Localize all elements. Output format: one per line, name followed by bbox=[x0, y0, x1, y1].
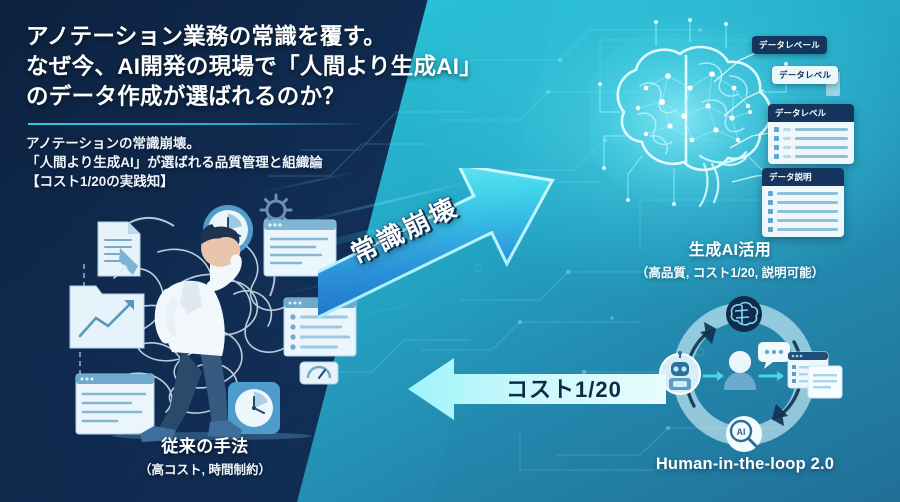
legacy-caption-main: 従来の手法 bbox=[60, 432, 350, 457]
person-icon bbox=[724, 351, 756, 390]
cost-reduction-label: コスト1/20 bbox=[506, 372, 622, 404]
svg-text:AI: AI bbox=[737, 427, 746, 437]
genai-caption-sub: （高品質, コスト1/20, 説明可能） bbox=[590, 262, 870, 281]
gauge-icon bbox=[300, 362, 338, 384]
infographic-canvas: アノテーション業務の常識を覆す。 なぜ今、AI開発の現場で「人間より生成AI」 … bbox=[0, 0, 900, 502]
genai-caption-main: 生成AI活用 bbox=[590, 236, 870, 260]
header-title-block: アノテーション業務の常識を覆す。 なぜ今、AI開発の現場で「人間より生成AI」 … bbox=[26, 22, 566, 191]
subtitle-line-3: 【コスト1/20の実践知】 bbox=[26, 172, 566, 191]
human-in-the-loop-cycle: AI bbox=[636, 296, 852, 456]
subtitle-line-1: アノテーションの常識崩壊。 bbox=[26, 134, 566, 153]
genai-usage-caption: 生成AI活用 （高品質, コスト1/20, 説明可能） bbox=[590, 236, 870, 281]
data-panel-2: データ説明 bbox=[762, 168, 844, 237]
data-panel-1-header: データレベル bbox=[768, 104, 854, 122]
legacy-caption-sub: （高コスト, 時間制約） bbox=[60, 459, 350, 478]
list-window-icon bbox=[76, 374, 154, 434]
hitl-caption: Human-in-the-loop 2.0 bbox=[600, 455, 890, 474]
data-panel-1: データレベル bbox=[768, 104, 854, 164]
data-panel-1-body bbox=[768, 122, 854, 164]
data-panel-2-body bbox=[762, 186, 844, 237]
data-label-chip-2: データレベル bbox=[772, 66, 838, 84]
data-panel-2-header: データ説明 bbox=[762, 168, 844, 186]
title-divider-rule bbox=[28, 123, 364, 125]
title-line-1: アノテーション業務の常識を覆す。 bbox=[26, 22, 566, 52]
document-icon bbox=[98, 222, 140, 276]
ai-magnifier-icon: AI bbox=[726, 416, 762, 452]
chat-bubble-icon bbox=[758, 342, 790, 369]
brain-icon bbox=[726, 296, 762, 332]
title-line-3: のデータ作成が選ばれるのか？ bbox=[26, 82, 566, 112]
data-label-chip-1: データレベール bbox=[752, 36, 827, 54]
legacy-method-caption: 従来の手法 （高コスト, 時間制約） bbox=[60, 432, 350, 478]
legacy-workflow-illustration bbox=[62, 186, 362, 456]
title-line-2: なぜ今、AI開発の現場で「人間より生成AI」 bbox=[26, 52, 566, 82]
subtitle-line-2: 「人間より生成AI」が選ばれる品質管理と組織論 bbox=[26, 153, 566, 172]
chart-folder-icon bbox=[70, 286, 144, 348]
